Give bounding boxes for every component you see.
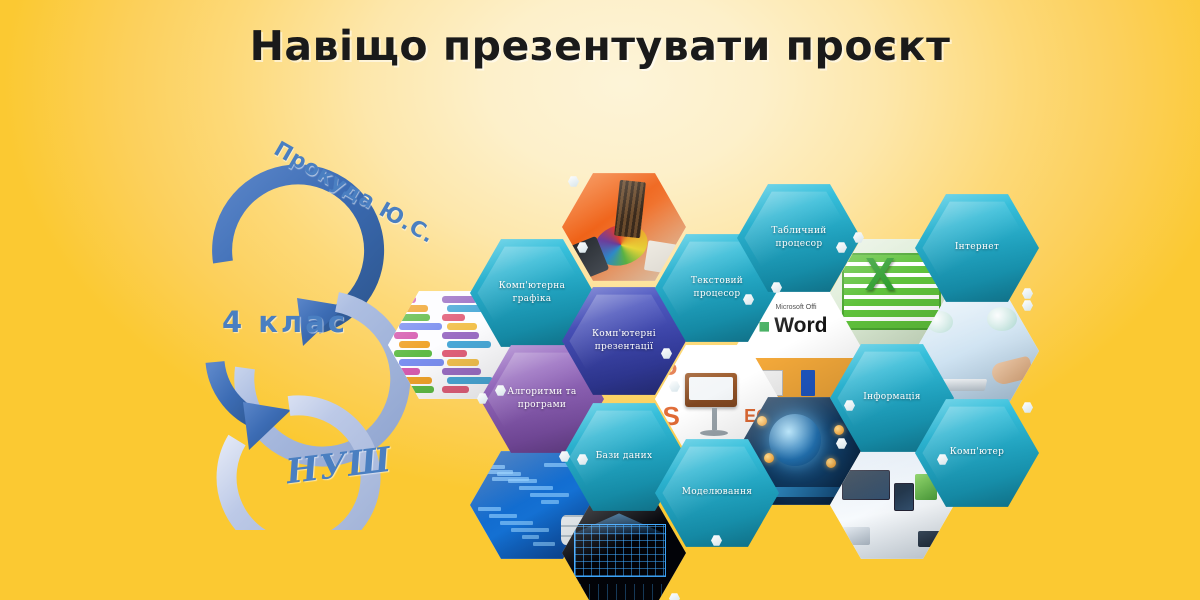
hex-topic-label: Інтернет: [955, 241, 999, 254]
hex-topic-label: Табличний процесор: [753, 225, 845, 251]
art-supplies-color-wheel-image: [562, 172, 686, 282]
hexagon-cluster: Комп'ютерна графікаАлгоритми та програми…: [370, 168, 1030, 568]
hex-topic-label: Комп'ютерні презентації: [578, 328, 670, 354]
hex-node-dot: [1022, 402, 1033, 413]
hex-node-dot: [1022, 300, 1033, 311]
hex-node-dot: [669, 593, 680, 600]
page-title: Навіщо презентувати проєкт: [0, 22, 1200, 70]
hex-image-art-supplies[interactable]: [562, 172, 686, 282]
hex-topic-label: Комп'ютерна графіка: [486, 280, 578, 306]
hex-node-dot: [568, 176, 579, 187]
hex-topic-label: Інформація: [863, 391, 921, 404]
presentation-slide: Навіщо презентувати проєкт: [0, 0, 1200, 600]
hex-topic-label: Моделювання: [682, 486, 752, 499]
cycle-arc-top: [222, 174, 374, 346]
hex-node-dot: [1022, 288, 1033, 299]
hex-topic-label: Бази даних: [596, 450, 653, 463]
hex-topic-label: Комп'ютер: [950, 446, 1004, 459]
hex-topic-label: Алгоритми та програми: [496, 386, 588, 412]
